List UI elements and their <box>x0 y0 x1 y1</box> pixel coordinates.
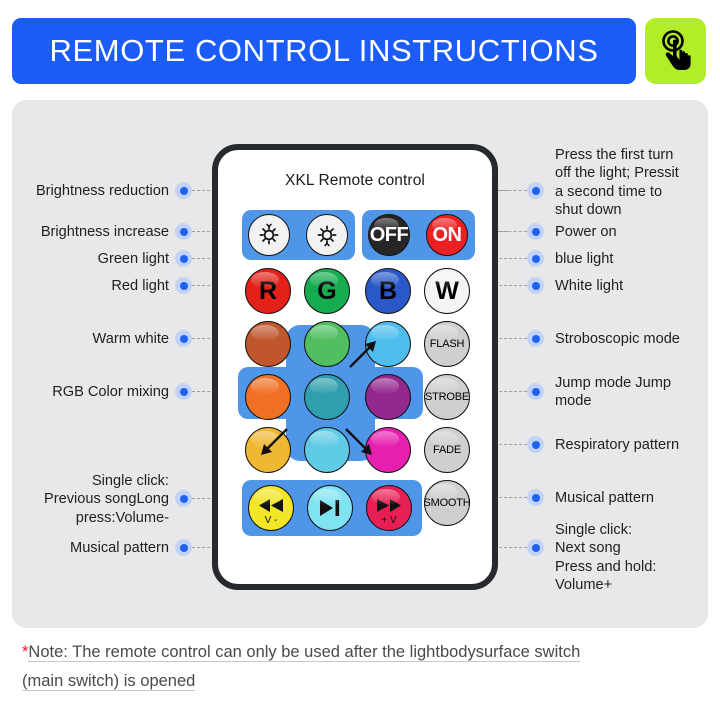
button-smooth-label: SMOOTH <box>423 497 470 509</box>
button-previous-track-sublabel: V - <box>249 515 293 526</box>
button-green-label: G <box>317 277 336 306</box>
next-track-icon <box>375 498 403 513</box>
button-white[interactable]: W <box>424 268 470 314</box>
note-line-2: (main switch) is opened <box>22 672 195 691</box>
button-on[interactable]: ON <box>426 214 468 256</box>
remote-brand-label: XKL Remote control <box>218 172 492 190</box>
bullet-left-6[interactable] <box>175 383 192 400</box>
button-gloss <box>310 431 337 447</box>
button-color-purple[interactable] <box>365 374 411 420</box>
button-color-orange[interactable] <box>245 374 291 420</box>
remote-control-body: XKL Remote control <box>212 144 498 590</box>
callout-right-white-light: White light <box>555 277 710 295</box>
button-fade-label: FADE <box>433 444 461 456</box>
button-next-track[interactable]: + V <box>366 485 412 531</box>
touch-gesture-icon <box>657 29 695 73</box>
button-gloss <box>251 378 278 394</box>
header-banner: REMOTE CONTROL INSTRUCTIONS <box>12 18 636 84</box>
bullet-right-6[interactable] <box>527 383 544 400</box>
brightness-up-icon <box>314 222 340 248</box>
bullet-left-5[interactable] <box>175 330 192 347</box>
callout-right-blue-light: blue light <box>555 250 710 268</box>
button-brightness-up[interactable] <box>306 214 348 256</box>
bullet-right-9[interactable] <box>527 539 544 556</box>
bullet-left-7[interactable] <box>175 490 192 507</box>
button-gloss <box>310 325 337 341</box>
brightness-down-icon <box>256 222 282 248</box>
button-fade[interactable]: FADE <box>424 427 470 473</box>
touch-gesture-icon-box <box>645 18 706 84</box>
button-red-label: R <box>259 277 277 306</box>
footer-note: *Note: The remote control can only be us… <box>22 638 702 696</box>
callout-left-brightness-increase: Brightness increase <box>14 223 169 241</box>
bullet-left-4[interactable] <box>175 277 192 294</box>
arrow-down-right-icon <box>343 426 377 460</box>
button-off[interactable]: OFF <box>368 214 410 256</box>
callout-right-off-behavior: Press the first turn off the light; Pres… <box>555 146 710 220</box>
bullet-right-8[interactable] <box>527 489 544 506</box>
bullet-left-1[interactable] <box>175 182 192 199</box>
bullet-right-2[interactable] <box>527 223 544 240</box>
button-red[interactable]: R <box>245 268 291 314</box>
button-previous-track[interactable]: V - <box>248 485 294 531</box>
button-gloss <box>371 378 398 394</box>
play-pause-icon <box>317 498 343 518</box>
previous-track-icon <box>257 498 285 513</box>
bullet-left-2[interactable] <box>175 223 192 240</box>
button-strobe-label: STROBE <box>425 391 469 403</box>
button-on-label: ON <box>433 224 462 247</box>
button-brightness-down[interactable] <box>248 214 290 256</box>
arrow-up-right-icon <box>347 336 381 370</box>
button-gloss <box>310 378 337 394</box>
bullet-right-3[interactable] <box>527 250 544 267</box>
button-color-light-green[interactable] <box>304 321 350 367</box>
bullet-right-7[interactable] <box>527 436 544 453</box>
button-color-warm-white[interactable] <box>245 321 291 367</box>
button-off-label: OFF <box>370 224 409 247</box>
callout-right-power-on: Power on <box>555 223 710 241</box>
bullet-left-3[interactable] <box>175 250 192 267</box>
callout-left-rgb-color-mixing: RGB Color mixing <box>14 383 169 401</box>
button-flash[interactable]: FLASH <box>424 321 470 367</box>
callout-right-jump-mode: Jump mode Jump mode <box>555 374 710 411</box>
button-white-label: W <box>435 277 459 306</box>
button-strobe[interactable]: STROBE <box>424 374 470 420</box>
page-root: REMOTE CONTROL INSTRUCTIONS <box>0 0 720 720</box>
callout-left-musical-pattern: Musical pattern <box>14 539 169 557</box>
bullet-right-5[interactable] <box>527 330 544 347</box>
arrow-down-left-icon <box>256 426 290 460</box>
callout-left-green-light: Green light <box>14 250 169 268</box>
button-play-pause[interactable] <box>307 485 353 531</box>
button-blue-label: B <box>379 277 397 306</box>
button-next-track-sublabel: + V <box>367 515 411 526</box>
button-green[interactable]: G <box>304 268 350 314</box>
button-flash-label: FLASH <box>430 338 464 350</box>
callout-left-warm-white: Warm white <box>14 330 169 348</box>
bullet-left-8[interactable] <box>175 539 192 556</box>
callout-left-previous-song: Single click: Previous songLong press:Vo… <box>14 472 169 527</box>
page-title: REMOTE CONTROL INSTRUCTIONS <box>50 33 599 69</box>
button-blue[interactable]: B <box>365 268 411 314</box>
bullet-right-4[interactable] <box>527 277 544 294</box>
callout-right-musical-pattern: Musical pattern <box>555 489 710 507</box>
button-color-teal[interactable] <box>304 374 350 420</box>
button-gloss <box>251 325 278 341</box>
note-line-1: Note: The remote control can only be use… <box>28 643 580 662</box>
bullet-right-1[interactable] <box>527 182 544 199</box>
callout-right-stroboscopic-mode: Stroboscopic mode <box>555 330 715 348</box>
callout-left-brightness-reduction: Brightness reduction <box>14 182 169 200</box>
callout-right-next-song: Single click: Next song Press and hold: … <box>555 521 715 595</box>
callout-left-red-light: Red light <box>14 277 169 295</box>
button-smooth[interactable]: SMOOTH <box>424 480 470 526</box>
callout-right-respiratory-pattern: Respiratory pattern <box>555 436 715 454</box>
